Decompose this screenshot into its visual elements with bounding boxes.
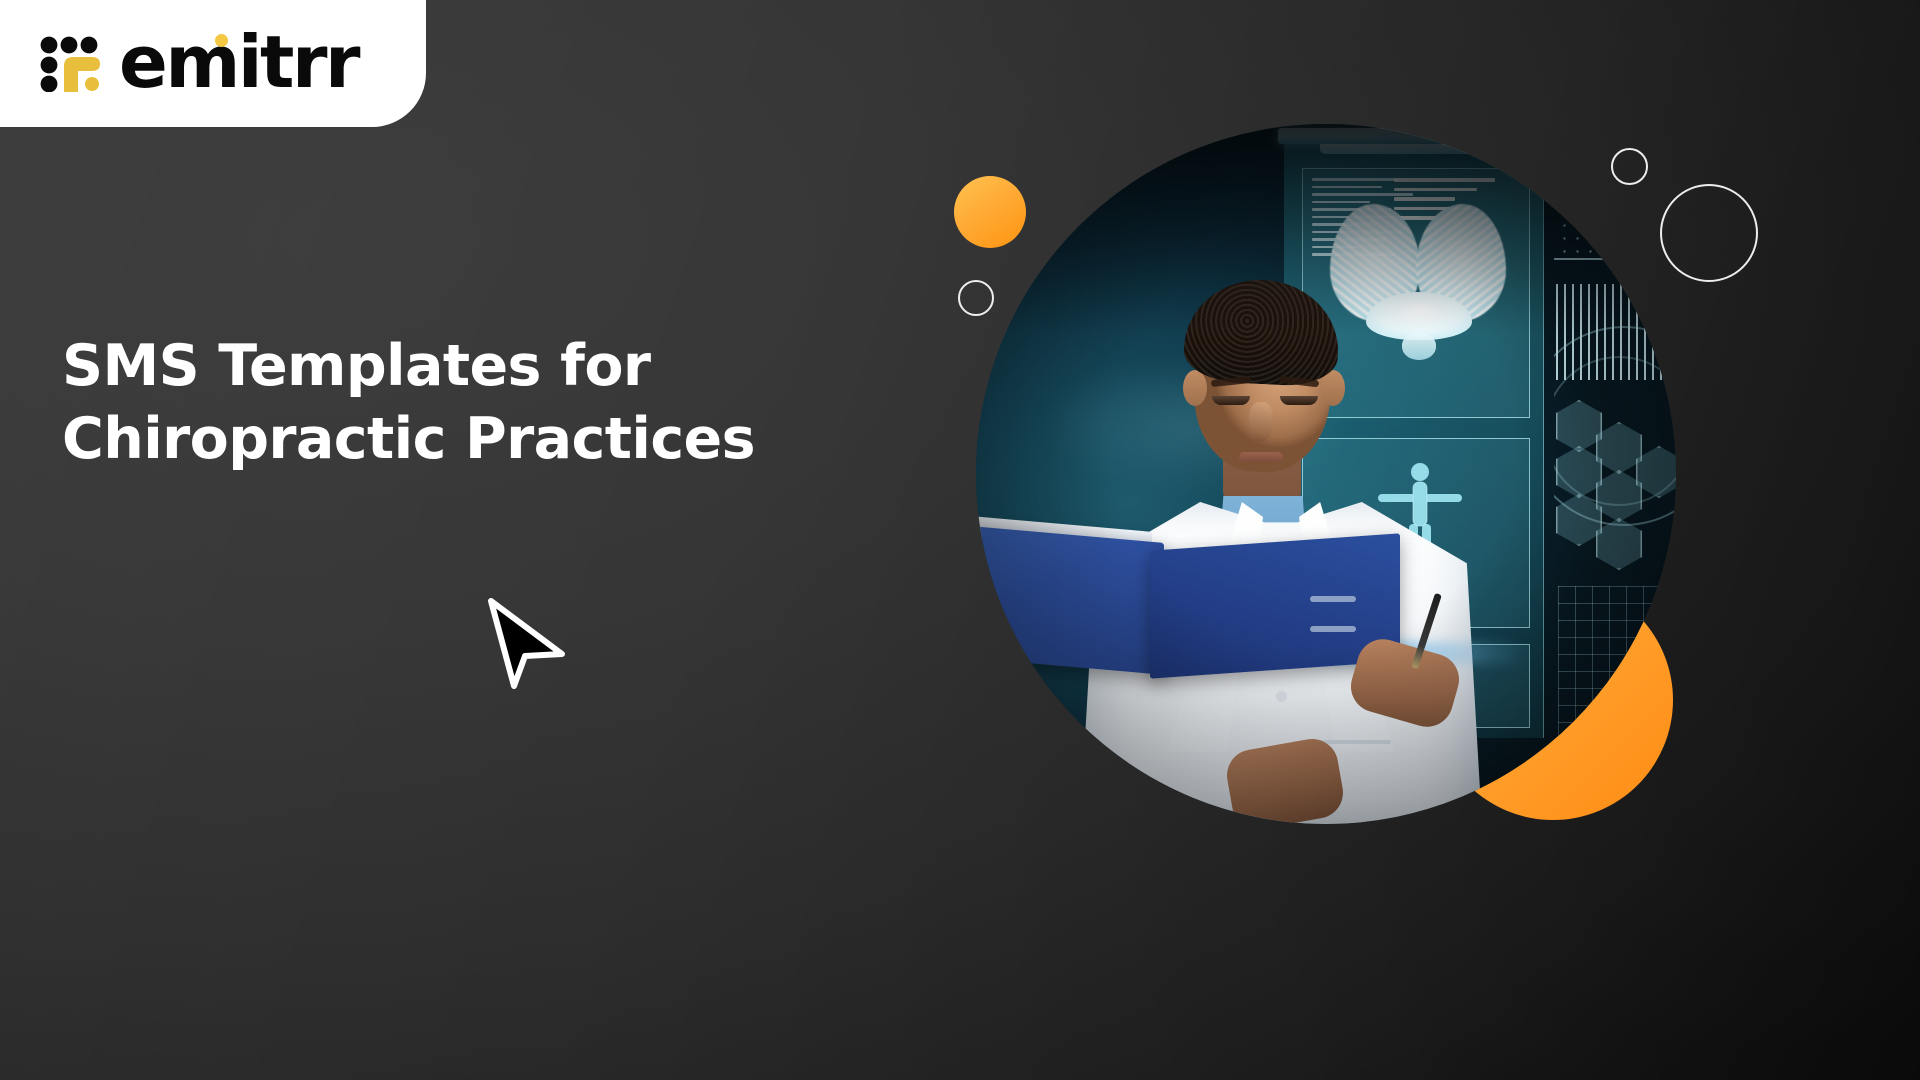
brand-logo-badge[interactable]: emitrr: [0, 0, 426, 127]
ring-outline-large-right-shape: [1660, 184, 1758, 282]
page-title: SMS Templates for Chiropractic Practices: [62, 330, 822, 476]
logo-wordmark: emitrr: [119, 26, 358, 98]
doctor-hand-left: [1223, 735, 1347, 824]
hud-fine-grid: [1558, 586, 1676, 736]
ring-outline-small-left-shape: [958, 280, 994, 316]
doctor-hands-layer: [1071, 274, 1491, 824]
hud-right-column: [1554, 146, 1676, 746]
logo-lockup: emitrr: [40, 28, 358, 100]
logo-wordmark-text: emitrr: [119, 20, 358, 104]
ring-outline-small-right-shape: [1611, 148, 1648, 185]
hero-illustration: [960, 110, 1750, 900]
logo-i-dot-accent: [215, 34, 228, 47]
hud-hexagon-cluster: [1554, 396, 1676, 576]
hud-step-line: [1554, 258, 1676, 284]
hero-photo-circle: [976, 124, 1676, 824]
hud-top-bar-secondary: [1320, 144, 1510, 154]
slide-canvas: emitrr SMS Templates for Chiropractic Pr…: [0, 0, 1920, 1080]
emitrr-dot-grid-mark-icon: [40, 36, 102, 92]
hero-photo: [976, 124, 1676, 824]
headline-heading: SMS Templates for Chiropractic Practices: [62, 330, 822, 476]
headline-line-2: Chiropractic Practices: [62, 403, 822, 476]
doctor-hand-right: [1345, 633, 1465, 733]
orange-circle-small-shape: [954, 176, 1026, 248]
headline-line-1: SMS Templates for: [62, 330, 822, 403]
hud-top-bar: [1278, 128, 1550, 144]
